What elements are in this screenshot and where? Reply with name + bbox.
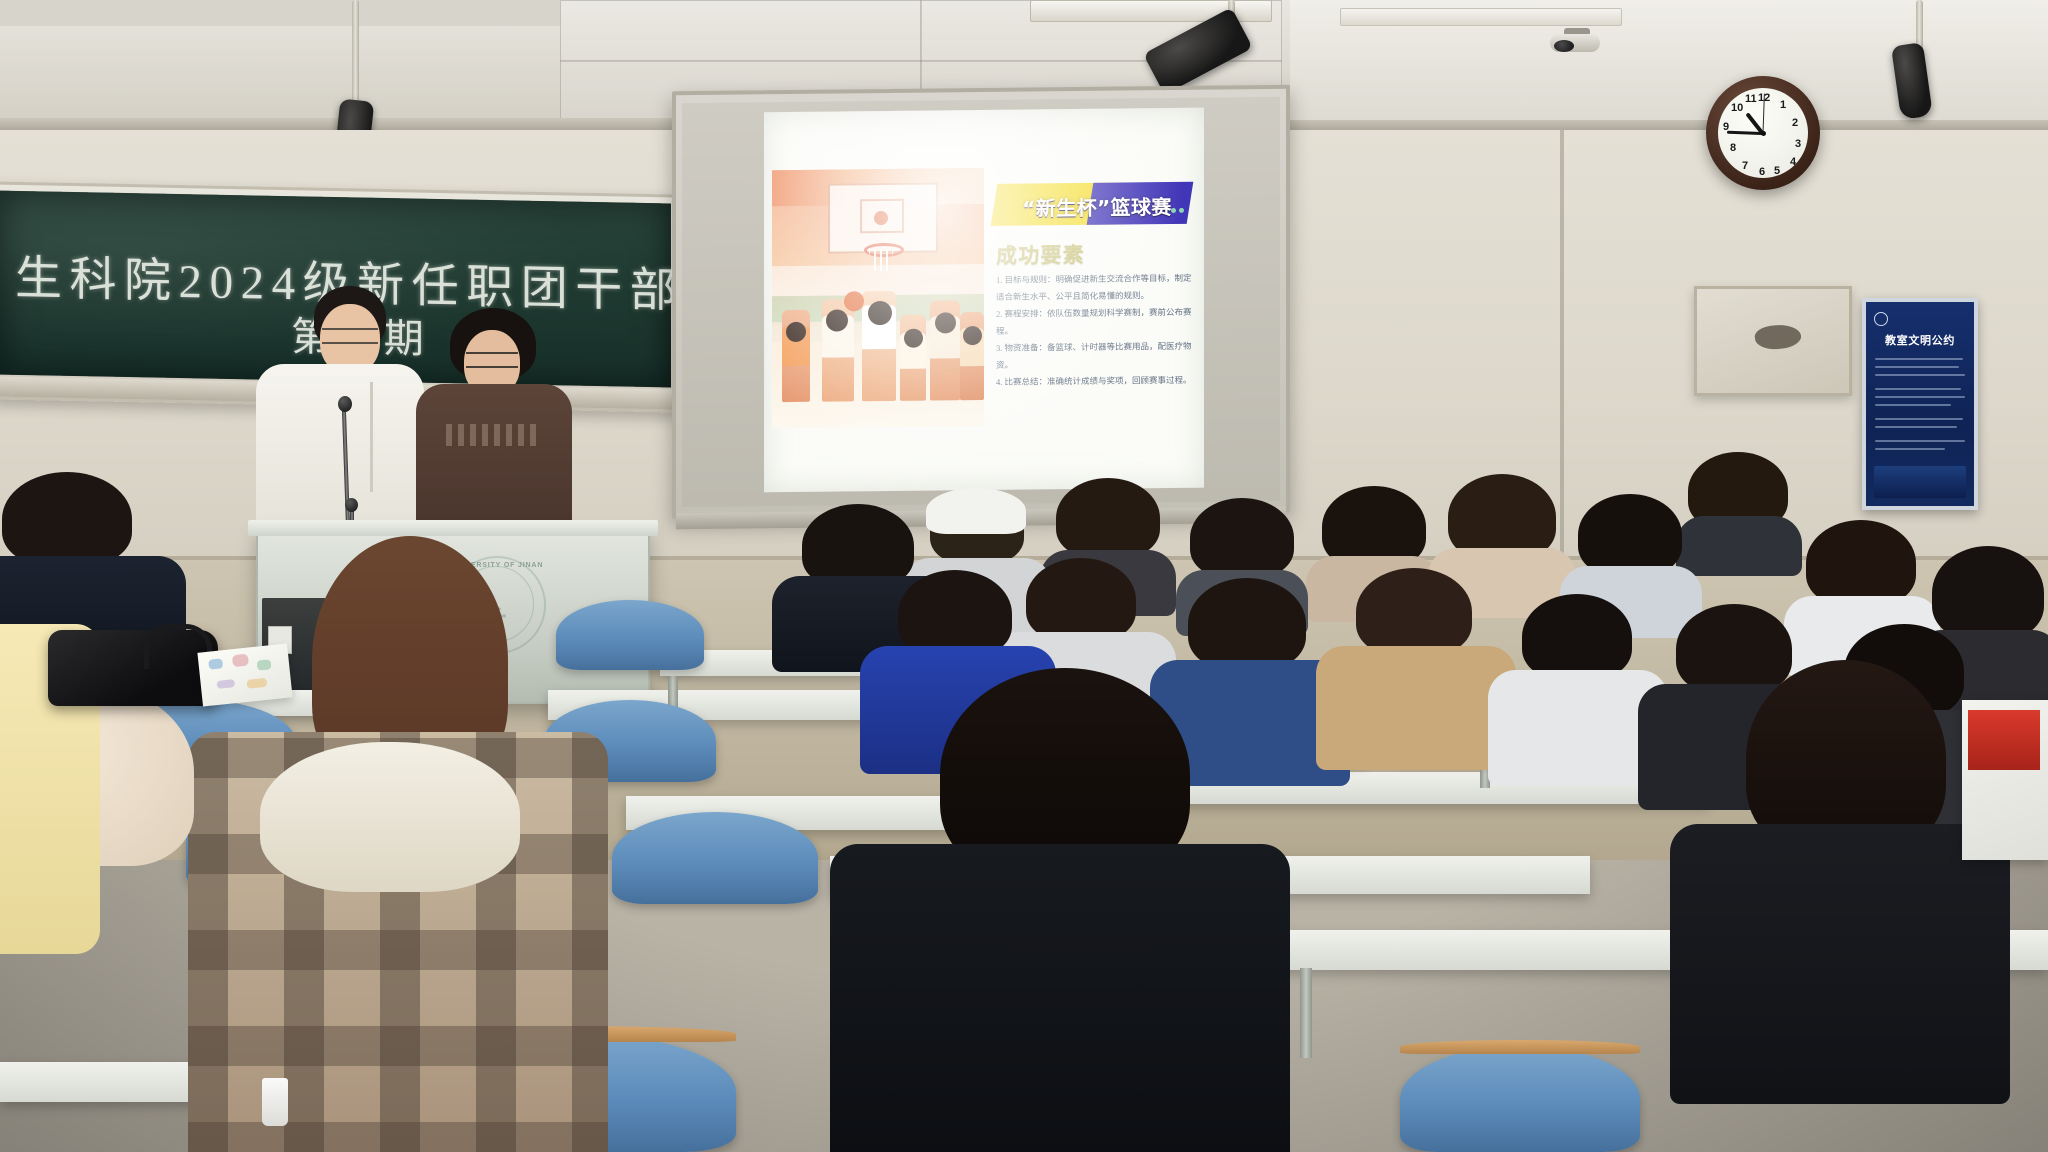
speaker-rod-left xyxy=(352,0,359,108)
clock-numeral: 8 xyxy=(1730,142,1736,154)
ceiling-camera-icon xyxy=(1544,28,1606,62)
slide-photo-basketball xyxy=(772,168,984,428)
slide-heading: 成功要素 xyxy=(996,239,1085,270)
presenter-right-print xyxy=(446,424,538,446)
presenter-left-zipper xyxy=(370,382,373,492)
seat[interactable] xyxy=(612,812,818,904)
foreground-scarf xyxy=(260,742,520,892)
desk-leg xyxy=(1300,968,1312,1058)
snack-bag-label xyxy=(1968,710,2040,770)
wall-clock: 12 1 2 3 4 5 6 7 8 9 10 11 xyxy=(1706,76,1820,190)
slide-bullet: 1. 目标与规则：明确促进新生交流合作等目标，制定适合新生水平、公平且简化易懂的… xyxy=(996,270,1192,305)
poster-logo-icon xyxy=(1874,312,1888,326)
ceiling-strip xyxy=(0,0,560,26)
poster-footer-image xyxy=(1874,466,1966,498)
audience-member xyxy=(1500,594,1650,780)
paper-folder[interactable] xyxy=(197,643,292,706)
clock-numeral: 5 xyxy=(1774,165,1780,177)
ceiling-light-right xyxy=(1340,8,1622,26)
projection-screen: “新生杯”篮球赛 成功要素 1. 目标与规则：明确促进新生交流合作等目标，制定适… xyxy=(672,85,1290,519)
microphone-head-right xyxy=(345,498,358,512)
white-cap-icon xyxy=(926,488,1026,534)
classroom-photo: 生科院2024级新任职团干部培训会 第二期 xyxy=(0,0,2048,1152)
classroom-rules-poster: 教室文明公约 xyxy=(1862,298,1978,510)
presenter-left-glasses-icon xyxy=(322,328,378,344)
clock-center-pin xyxy=(1761,131,1766,136)
snack-bag[interactable] xyxy=(1962,700,2048,860)
wall-notice-board xyxy=(1694,286,1852,396)
black-handbag[interactable] xyxy=(48,630,218,706)
audience-member-foreground-left xyxy=(196,536,596,1152)
audience-member xyxy=(1684,452,1792,570)
slide-bullet: 3. 物资准备：备篮球、计时器等比赛用品，配医疗物资。 xyxy=(996,338,1192,373)
audience-member xyxy=(1330,568,1498,764)
seat-trim xyxy=(1400,1040,1640,1054)
clock-numeral: 10 xyxy=(1731,102,1743,114)
audience-member-foreground-right xyxy=(830,668,1290,1152)
notice-board-smudge xyxy=(1754,322,1803,351)
slide-title-banner: “新生杯”篮球赛 xyxy=(994,182,1190,226)
clock-second-hand xyxy=(1763,94,1765,134)
microphone-head-left xyxy=(338,396,352,412)
slide-bullet-list: 1. 目标与规则：明确促进新生交流合作等目标，制定适合新生水平、公平且简化易懂的… xyxy=(996,270,1192,392)
projected-slide: “新生杯”篮球赛 成功要素 1. 目标与规则：明确促进新生交流合作等目标，制定适… xyxy=(764,108,1204,493)
seat[interactable] xyxy=(1400,1046,1640,1152)
clock-numeral: 6 xyxy=(1759,166,1765,178)
clock-numeral: 2 xyxy=(1792,117,1798,129)
audience-member-foreground-far-right xyxy=(1676,660,2006,1090)
slide-title-text: “新生杯”篮球赛 xyxy=(1002,191,1192,222)
presenter-right-glasses-icon xyxy=(466,352,518,368)
presenter-left xyxy=(250,286,430,556)
clock-minute-hand xyxy=(1727,131,1763,135)
clock-numeral: 4 xyxy=(1790,156,1796,168)
clock-numeral: 3 xyxy=(1795,138,1801,150)
title-dots-icon xyxy=(1168,200,1184,218)
lectern-top xyxy=(248,520,658,536)
slide-bullet: 2. 赛程安排：依队伍数量规划科学赛制，赛前公布赛程。 xyxy=(996,304,1192,339)
paper-cup[interactable] xyxy=(262,1078,288,1126)
clock-numeral: 1 xyxy=(1780,99,1786,111)
slide-bullet: 4. 比赛总结：准确统计成绩与奖项，回顾赛事过程。 xyxy=(996,372,1192,391)
clock-numeral: 11 xyxy=(1745,93,1757,105)
clock-face: 12 1 2 3 4 5 6 7 8 9 10 11 xyxy=(1718,88,1808,178)
poster-title: 教室文明公约 xyxy=(1866,332,1974,348)
clock-numeral: 7 xyxy=(1742,160,1748,172)
